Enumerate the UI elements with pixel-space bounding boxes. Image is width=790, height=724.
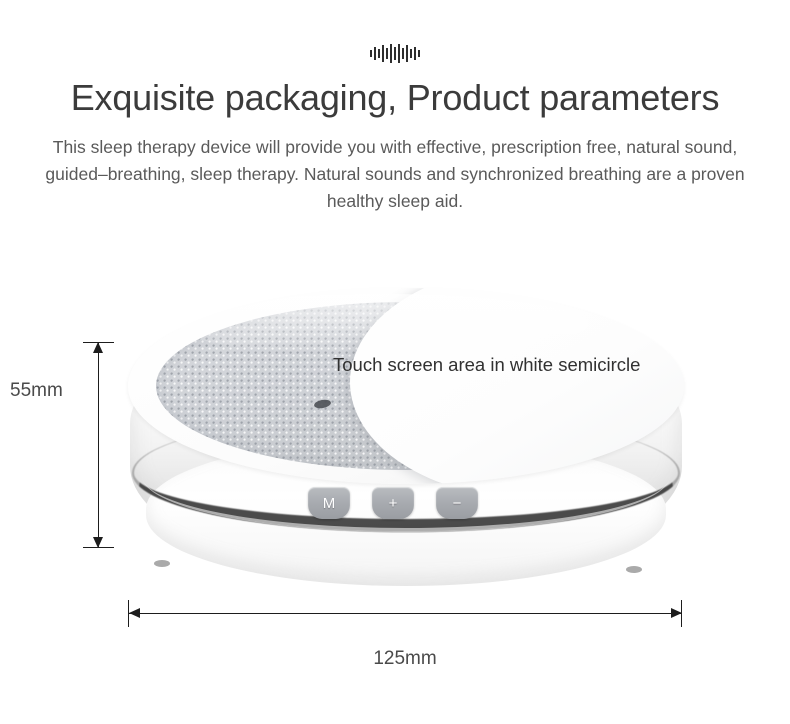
device-top-face <box>128 288 684 484</box>
device-foot <box>626 566 642 573</box>
page-description: This sleep therapy device will provide y… <box>45 134 745 215</box>
dimension-arrow-left-icon <box>129 608 140 618</box>
touch-area-caption: Touch screen area in white semicircle <box>333 353 640 377</box>
waveform-bar <box>386 48 388 59</box>
product-image <box>128 288 684 588</box>
height-dimension-label: 55mm <box>10 380 88 402</box>
width-dimension-label: 125mm <box>128 648 682 670</box>
dimension-arrow-up-icon <box>93 342 103 353</box>
waveform-bar <box>398 44 400 63</box>
volume-down-button[interactable]: − <box>436 487 478 519</box>
waveform-bar <box>374 47 376 60</box>
waveform-bar <box>414 47 416 60</box>
waveform-bar <box>382 45 384 62</box>
width-dimension-line <box>128 613 682 614</box>
device-foot <box>154 560 170 567</box>
control-button-row: M + − <box>308 487 478 519</box>
audio-waveform-icon <box>0 40 790 66</box>
dimension-arrow-down-icon <box>93 537 103 548</box>
touch-screen-semicircle[interactable] <box>350 288 684 484</box>
waveform-bar <box>390 44 392 63</box>
waveform-bar <box>370 50 372 57</box>
waveform-bar <box>378 49 380 58</box>
waveform-bar <box>410 49 412 58</box>
height-dimension-line <box>98 342 99 548</box>
waveform-bar <box>402 48 404 59</box>
dimension-arrow-right-icon <box>671 608 682 618</box>
mode-button[interactable]: M <box>308 487 350 519</box>
waveform-bar <box>418 50 420 57</box>
page-title: Exquisite packaging, Product parameters <box>0 76 790 120</box>
volume-up-button[interactable]: + <box>372 487 414 519</box>
waveform-bar <box>394 47 396 60</box>
waveform-bar <box>406 45 408 62</box>
